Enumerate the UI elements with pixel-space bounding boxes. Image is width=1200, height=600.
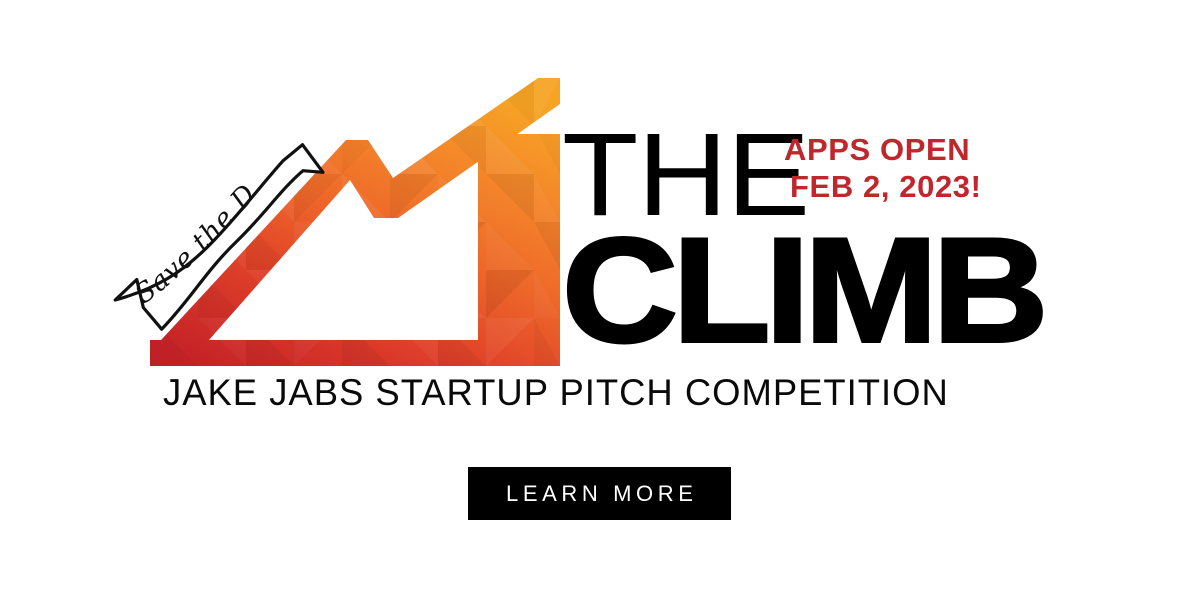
title-climb: CLIMB — [562, 216, 1043, 365]
learn-more-label: LEARN MORE — [501, 483, 697, 505]
learn-more-button[interactable]: LEARN MORE — [468, 467, 731, 520]
wordmark: THE APPS OPEN FEB 2, 2023! CLIMB — [562, 116, 1062, 356]
promo-banner: Save the Date THE APPS OPEN FEB 2, 2023!… — [0, 0, 1200, 600]
apps-open-announcement: APPS OPEN FEB 2, 2023! — [784, 132, 982, 205]
page-subtitle: JAKE JABS STARTUP PITCH COMPETITION — [163, 374, 1030, 411]
apps-open-line2: FEB 2, 2023! — [784, 169, 982, 206]
apps-open-line1: APPS OPEN — [784, 132, 970, 167]
mountain-chart-logo-icon — [150, 78, 560, 366]
